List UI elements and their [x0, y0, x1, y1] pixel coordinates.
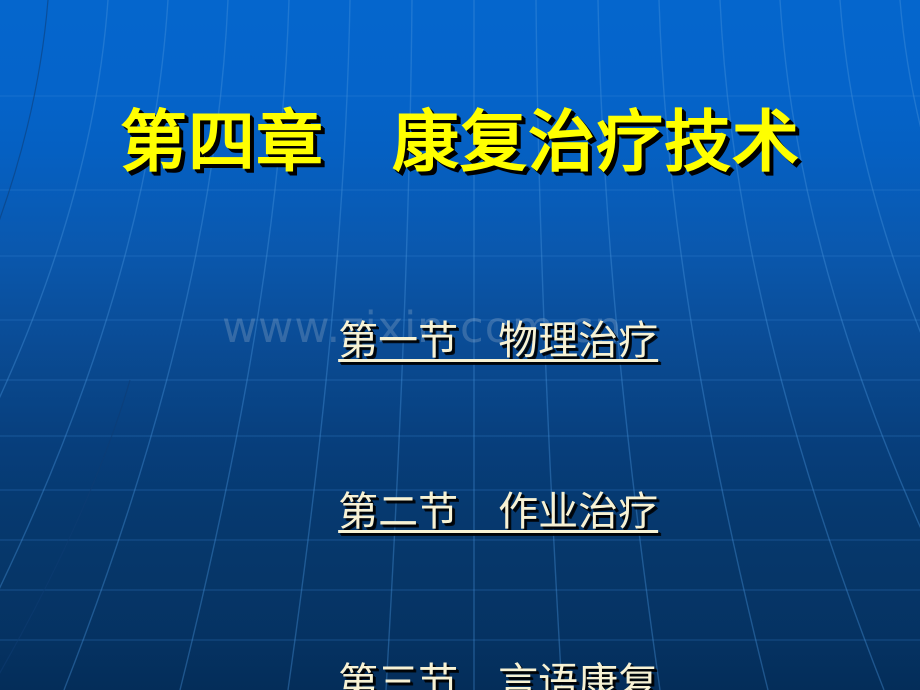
section-link-2[interactable]: 第二节 作业治疗 — [338, 489, 658, 535]
slide-title: 第四章 康复治疗技术 — [0, 100, 920, 184]
section-list: 第一节 物理治疗 第二节 作业治疗 第三节 言语康复 第四节 心理康复 第五节 … — [0, 256, 920, 690]
presentation-slide: www.zixin.com.cn 第四章 康复治疗技术 第一节 物理治疗 第二节… — [0, 0, 920, 690]
list-item[interactable]: 第二节 作业治疗 — [0, 427, 920, 598]
list-item[interactable]: 第三节 言语康复 — [0, 598, 920, 690]
section-link-1[interactable]: 第一节 物理治疗 — [338, 318, 658, 364]
section-link-3[interactable]: 第三节 言语康复 — [338, 660, 658, 690]
list-item[interactable]: 第一节 物理治疗 — [0, 256, 920, 427]
